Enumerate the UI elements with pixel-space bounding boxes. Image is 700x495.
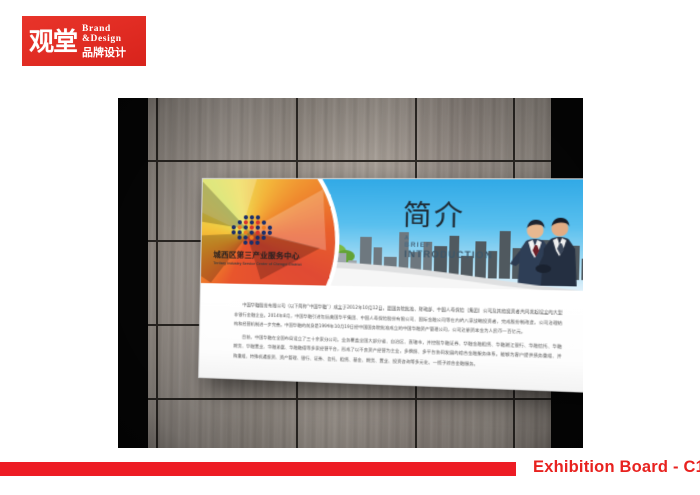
brand-logo-en-line1: Brand bbox=[82, 24, 140, 34]
board-body-text: 中国华融股份有限公司（以下简称“中国华融”）成立于2012年10月12日，是国务… bbox=[199, 283, 583, 392]
board-title-chinese: 简介 bbox=[403, 202, 466, 232]
wall-grout-vertical bbox=[156, 98, 158, 448]
brand-logo-text-stack: Brand &Design 品牌设计 bbox=[82, 24, 140, 59]
brand-logo-chinese: 观堂 bbox=[29, 29, 77, 54]
board-title-en-line3: INTRODUCTION bbox=[404, 249, 493, 261]
body-paragraph: 目前，中国华融在全国布局设立了三十余家分公司，业务覆盖全国大部分省、自治区、直辖… bbox=[233, 332, 562, 372]
footer-caption: Exhibition Board - C1 bbox=[533, 458, 700, 477]
board-header: 城西区第三产业服务中心 Tertiary Industry Service Ce… bbox=[201, 179, 583, 291]
exhibition-board: 城西区第三产业服务中心 Tertiary Industry Service Ce… bbox=[198, 178, 583, 393]
board-surface: 城西区第三产业服务中心 Tertiary Industry Service Ce… bbox=[198, 178, 583, 393]
photo-black-band-left bbox=[118, 98, 148, 448]
brand-logo-subtitle: 品牌设计 bbox=[82, 46, 140, 59]
brand-logo: 观堂 Brand &Design 品牌设计 bbox=[22, 16, 146, 66]
footer-red-bar bbox=[0, 462, 516, 476]
org-logo-dot-mark bbox=[223, 213, 280, 250]
scene-photo: 城西区第三产业服务中心 Tertiary Industry Service Ce… bbox=[118, 98, 583, 448]
brand-logo-en-line2: &Design bbox=[82, 34, 140, 44]
org-name-chinese: 城西区第三产业服务中心 bbox=[208, 251, 305, 261]
